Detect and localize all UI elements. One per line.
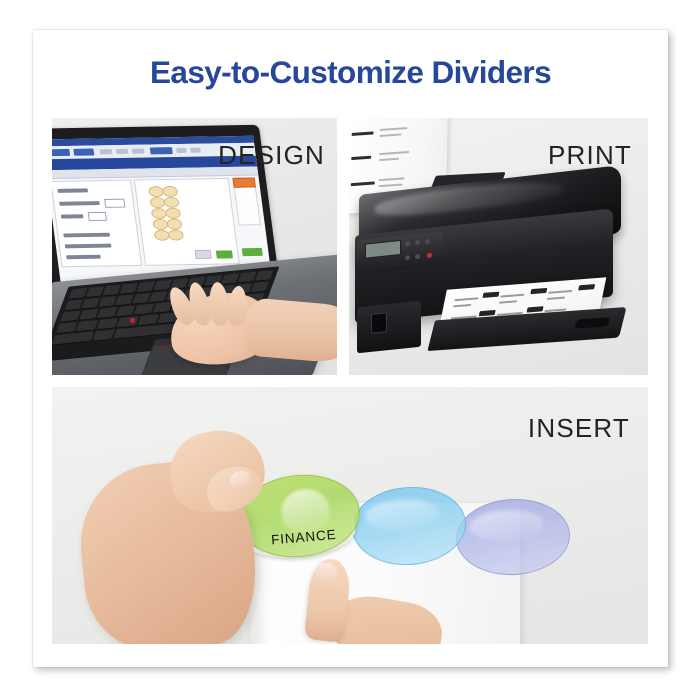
hand-on-keyboard xyxy=(166,280,337,375)
panel-label-print: PRINT xyxy=(548,140,632,171)
panel-print: PRINT xyxy=(349,118,648,375)
printer-lcd-display xyxy=(365,240,401,259)
app-tab-preview xyxy=(233,181,261,225)
page-title: Easy-to-Customize Dividers xyxy=(33,54,668,91)
app-preview-canvas xyxy=(134,178,240,266)
printer-button-back[interactable] xyxy=(425,239,430,245)
panel-design: DESIGN xyxy=(52,118,337,375)
printer-button-copy[interactable] xyxy=(405,255,410,261)
app-tab-preview-swatch xyxy=(232,177,255,187)
product-image-canvas: Easy-to-Customize Dividers xyxy=(0,0,700,700)
panel-insert: FINANCE INSERT xyxy=(52,387,648,644)
printer-side-panel xyxy=(357,301,421,354)
printer-usb-port xyxy=(371,312,387,334)
printer-button-ok[interactable] xyxy=(415,240,420,246)
right-hand-pressing-label xyxy=(288,559,458,644)
app-form-panel xyxy=(52,180,142,268)
left-hand-holding-tab xyxy=(82,405,312,644)
printer-button-menu[interactable] xyxy=(405,241,410,247)
product-card: Easy-to-Customize Dividers xyxy=(33,30,668,667)
printer-button-scan[interactable] xyxy=(415,254,420,260)
printer-button-stop[interactable] xyxy=(427,253,432,259)
panel-label-design: DESIGN xyxy=(218,140,325,171)
panel-label-insert: INSERT xyxy=(528,413,630,444)
